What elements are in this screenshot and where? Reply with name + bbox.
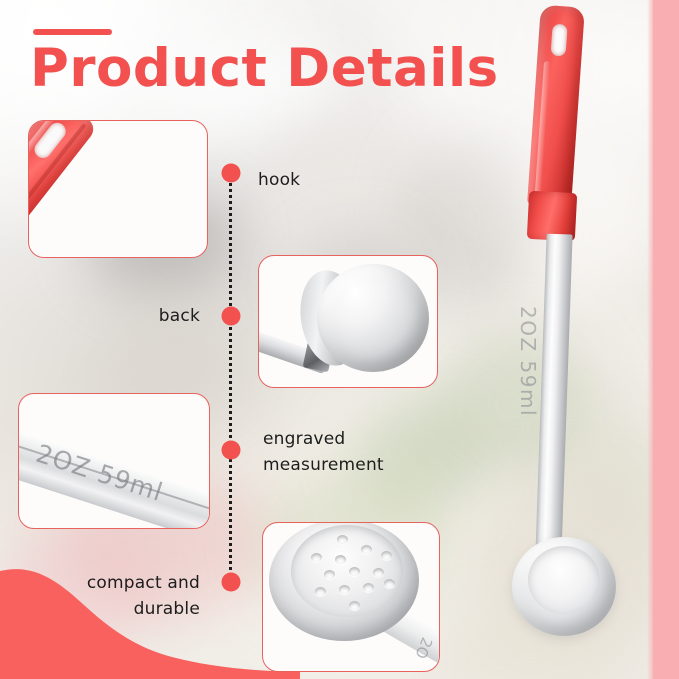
bowl-hole <box>335 555 346 564</box>
callout-label-back: back <box>60 304 200 329</box>
title-underline-accent <box>33 29 112 35</box>
bowl-hole <box>315 587 326 596</box>
page-title: Product Details <box>30 40 499 97</box>
timeline-dotted-line <box>229 170 234 588</box>
thumbnail-image-back <box>259 256 437 387</box>
thumbnail-card-engraved[interactable]: 2OZ 59ml <box>18 393 210 529</box>
product-details-infographic: Product Details hook back engraved measu… <box>0 0 679 679</box>
hero-engraving-text: 2OZ 59ml <box>516 306 540 417</box>
perforated-bowl-shape <box>269 523 419 641</box>
thumbnail-image-engraved: 2OZ 59ml <box>19 394 209 528</box>
thumbnail-card-compact[interactable]: 2O <box>262 522 440 672</box>
bowl-hole <box>324 570 335 579</box>
timeline-dot-hook <box>222 164 241 183</box>
thumbnail-card-hook[interactable] <box>28 120 208 258</box>
bowl-hole <box>339 585 350 594</box>
hero-steel-shaft <box>535 234 572 557</box>
thumbnail-card-back[interactable] <box>258 255 438 388</box>
red-handle-shape <box>29 121 98 257</box>
hero-product-image: 2OZ 59ml <box>492 6 632 646</box>
thumbnail-image-perforated-bowl: 2O <box>263 523 439 671</box>
bowl-hole <box>373 568 384 577</box>
bowl-hole <box>349 601 360 610</box>
perforated-bowl-inner <box>291 525 403 617</box>
pink-side-band <box>653 0 679 679</box>
handle-ridge <box>29 123 86 257</box>
callout-label-hook: hook <box>258 168 300 193</box>
bowl-hole <box>311 553 322 562</box>
bowl-hole <box>361 545 372 554</box>
hero-spoon-bowl <box>512 537 616 636</box>
bowl-hole <box>381 551 392 560</box>
bowl-hole <box>349 567 360 576</box>
spoon-bowl-back-shape <box>317 264 429 372</box>
timeline-dot-compact <box>222 573 241 592</box>
bowl-hole <box>363 583 374 592</box>
bowl-hole <box>337 535 348 544</box>
hero-red-grip <box>527 5 585 208</box>
timeline-dot-back <box>222 307 241 326</box>
bowl-hole <box>384 579 395 588</box>
thumbnail-image-hook <box>29 121 207 257</box>
timeline-dot-engraved <box>222 441 241 460</box>
